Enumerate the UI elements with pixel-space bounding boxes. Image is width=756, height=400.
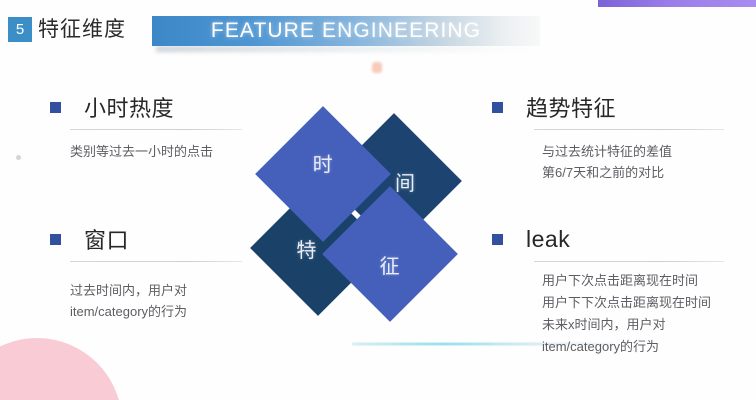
pink-circle-decoration: [0, 338, 122, 400]
block-title: 小时热度: [84, 91, 174, 123]
divider: [534, 261, 724, 262]
feature-block-leak: leak 用户下次点击距离现在时间 用户下下次点击距离现在时间 未来x时间内，用…: [492, 222, 728, 358]
block-header: 趋势特征: [492, 90, 724, 124]
purple-accent-bar: [598, 0, 756, 7]
description-line: 用户下次点击距离现在时间: [542, 270, 728, 292]
divider: [534, 129, 724, 130]
description-line: item/category的行为: [542, 336, 728, 358]
section-number-badge: 5: [8, 17, 32, 42]
diamond-tile-label: 间: [395, 167, 415, 196]
diamond-graphic: 时 间 特 征: [266, 112, 494, 310]
block-header: 窗口: [50, 222, 250, 256]
description-line: item/category的行为: [70, 301, 250, 322]
banner-shadow: [156, 46, 538, 52]
block-title: 窗口: [84, 223, 129, 255]
feature-block-trend: 趋势特征 与过去统计特征的差值 第6/7天和之前的对比: [492, 90, 724, 183]
diamond-tile-label: 征: [380, 249, 400, 278]
block-title: 趋势特征: [526, 91, 616, 123]
header-banner: FEATURE ENGINEERING: [152, 16, 540, 46]
feature-block-hourly: 小时热度 类别等过去一小时的点击: [50, 90, 246, 162]
block-description: 与过去统计特征的差值 第6/7天和之前的对比: [542, 141, 724, 183]
divider: [70, 129, 242, 130]
slide-feature-engineering: 5 特征维度 FEATURE ENGINEERING 小时热度 类别等过去一小时…: [0, 0, 756, 400]
slide-header: 5 特征维度 FEATURE ENGINEERING: [0, 13, 756, 47]
banner-title: FEATURE ENGINEERING: [152, 16, 540, 46]
description-line: 与过去统计特征的差值: [542, 141, 724, 162]
description-line: 第6/7天和之前的对比: [542, 162, 724, 183]
square-bullet-icon: [50, 102, 61, 113]
orange-dot-decoration: [372, 62, 382, 73]
block-title: leak: [526, 226, 570, 253]
grey-dot-decoration: [16, 155, 21, 160]
block-description: 过去时间内，用户对 item/category的行为: [70, 280, 250, 322]
block-header: leak: [492, 222, 728, 256]
feature-block-window: 窗口 过去时间内，用户对 item/category的行为: [50, 222, 250, 322]
diamond-tile-label: 时: [313, 148, 333, 177]
description-line: 未来x时间内，用户对: [542, 314, 728, 336]
description-line: 类别等过去一小时的点击: [70, 141, 246, 162]
diamond-tile-label: 特: [297, 234, 317, 263]
square-bullet-icon: [50, 234, 61, 245]
divider: [70, 261, 242, 262]
block-description: 类别等过去一小时的点击: [70, 141, 246, 162]
square-bullet-icon: [492, 102, 503, 113]
page-title: 特征维度: [38, 15, 126, 44]
block-description: 用户下次点击距离现在时间 用户下下次点击距离现在时间 未来x时间内，用户对 it…: [542, 270, 728, 358]
square-bullet-icon: [492, 234, 503, 245]
description-line: 过去时间内，用户对: [70, 280, 250, 301]
description-line: 用户下下次点击距离现在时间: [542, 292, 728, 314]
block-header: 小时热度: [50, 90, 246, 124]
